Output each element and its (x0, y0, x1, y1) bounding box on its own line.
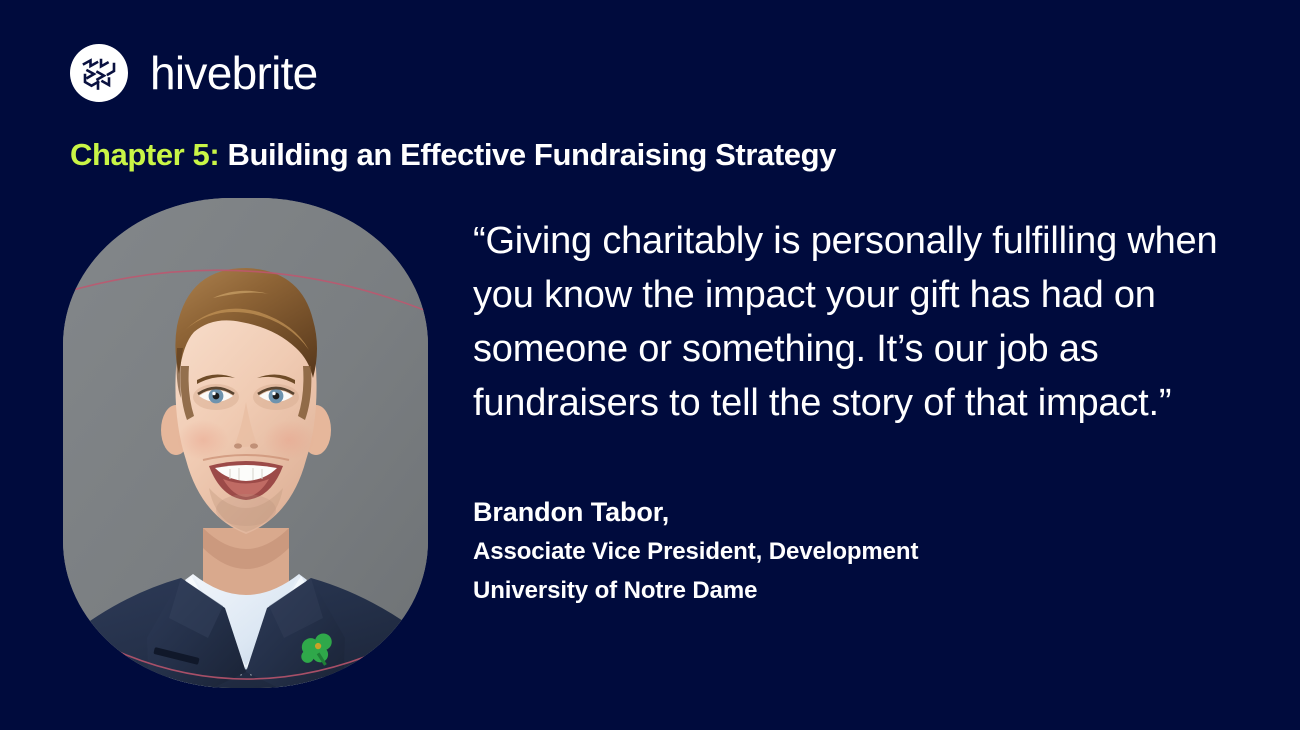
author-organization: University of Notre Dame (473, 571, 1233, 610)
quote-text: “Giving charitably is personally fulfill… (473, 214, 1233, 430)
brand-logo: hivebrite (70, 44, 318, 102)
brand-name: hivebrite (150, 50, 318, 96)
chapter-label: Chapter 5: (70, 137, 219, 172)
speaker-portrait (63, 198, 428, 688)
quote-block: “Giving charitably is personally fulfill… (473, 214, 1233, 610)
page-title: Chapter 5: Building an Effective Fundrai… (70, 136, 836, 173)
quote-slide: hivebrite Chapter 5: Building an Effecti… (0, 0, 1300, 730)
hivebrite-hex-cube-logo-icon (70, 44, 128, 102)
chapter-name: Building an Effective Fundraising Strate… (219, 137, 836, 172)
author-role: Associate Vice President, Development (473, 532, 1233, 571)
attribution: Brandon Tabor, Associate Vice President,… (473, 492, 1233, 610)
author-name: Brandon Tabor, (473, 492, 1233, 532)
